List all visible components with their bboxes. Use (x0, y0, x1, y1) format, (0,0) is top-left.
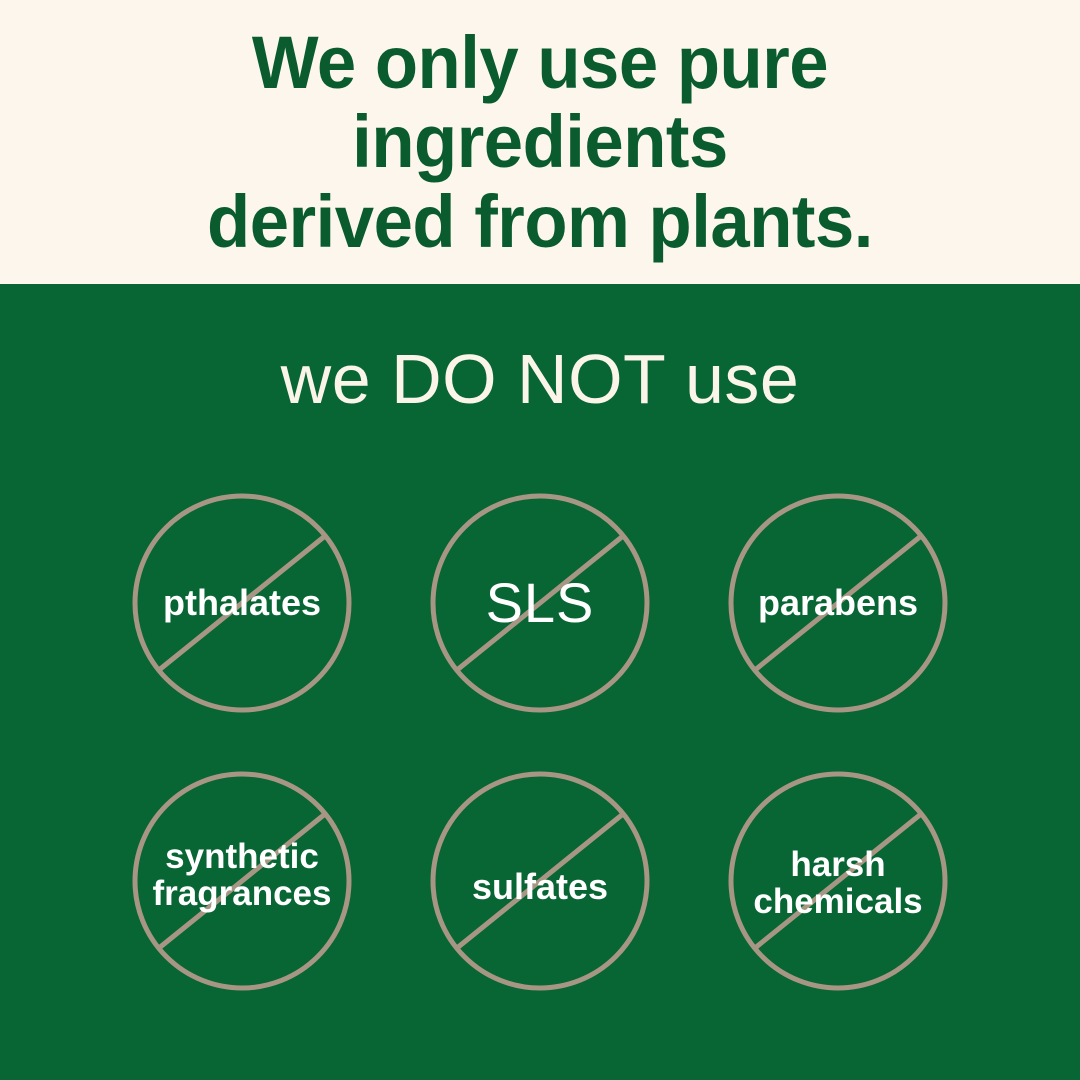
no-entry-icon (429, 770, 651, 992)
banned-ingredients-grid: pthalates SLS (0, 492, 1080, 1052)
header-band: We only use pure ingredients derived fro… (0, 0, 1080, 284)
banned-ingredients-row: synthetic fragrances sulfates (0, 770, 1080, 992)
headline-line-1: We only use pure ingredients (72, 23, 1008, 181)
banned-item-sulfates: sulfates (429, 770, 651, 992)
banned-item-pthalates: pthalates (131, 492, 353, 714)
no-entry-icon (727, 492, 949, 714)
banned-item-sls: SLS (429, 492, 651, 714)
headline: We only use pure ingredients derived fro… (72, 23, 1008, 261)
banned-item-synthetic-fragrances: synthetic fragrances (131, 770, 353, 992)
no-entry-icon (131, 492, 353, 714)
body-area: we DO NOT use pthalates (0, 284, 1080, 1080)
subheading: we DO NOT use (0, 344, 1080, 414)
no-entry-icon (429, 492, 651, 714)
banned-item-parabens: parabens (727, 492, 949, 714)
banned-ingredients-row: pthalates SLS (0, 492, 1080, 714)
headline-line-2: derived from plants. (72, 182, 1008, 261)
no-entry-icon (131, 770, 353, 992)
no-entry-icon (727, 770, 949, 992)
banned-item-harsh-chemicals: harsh chemicals (727, 770, 949, 992)
promo-poster: We only use pure ingredients derived fro… (0, 0, 1080, 1080)
